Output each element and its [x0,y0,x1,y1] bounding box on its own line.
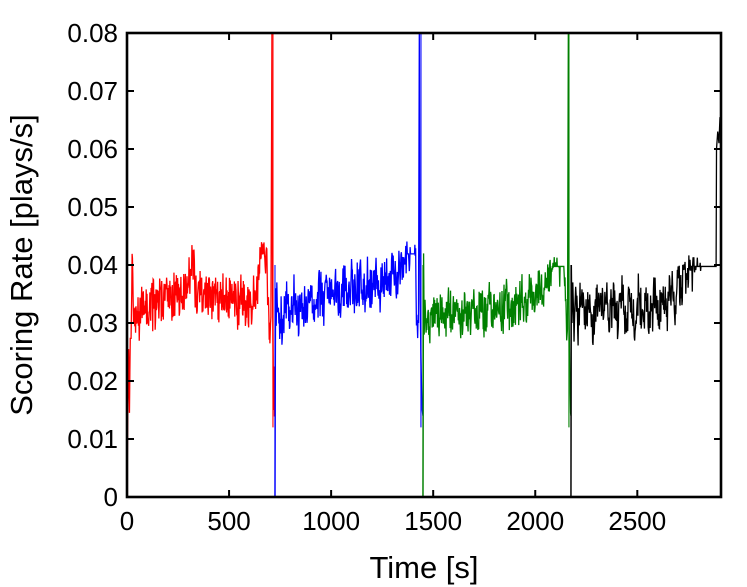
y-tick-label-4: 0.04 [67,250,118,280]
y-axis-label: Scoring Rate [plays/s] [4,114,39,416]
x-tick-label-1: 500 [207,506,250,536]
y-tick-label-3: 0.03 [67,308,118,338]
y-tick-label-1: 0.01 [67,424,118,454]
y-tick-label-2: 0.02 [67,366,118,396]
y-tick-label-0: 0 [104,482,118,512]
x-tick-label-2: 1000 [302,506,360,536]
x-tick-label-5: 2500 [608,506,666,536]
y-tick-label-8: 0.08 [67,18,118,48]
scoring-rate-line-chart: 0500100015002000250000.010.020.030.040.0… [0,0,747,587]
x-tick-label-4: 2000 [506,506,564,536]
chart-figure: 0500100015002000250000.010.020.030.040.0… [0,0,747,587]
x-tick-label-3: 1500 [404,506,462,536]
x-axis-label: Time [s] [369,550,478,585]
y-tick-label-5: 0.05 [67,192,118,222]
y-tick-label-7: 0.07 [67,76,118,106]
x-tick-label-0: 0 [120,506,134,536]
y-tick-label-6: 0.06 [67,134,118,164]
